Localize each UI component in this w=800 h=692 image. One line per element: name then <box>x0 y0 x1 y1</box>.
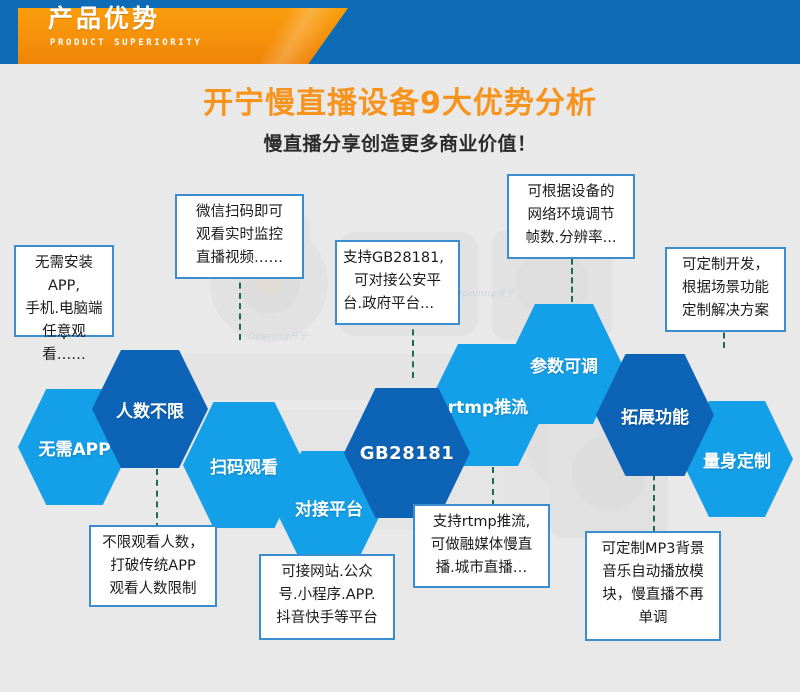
callout-5-line-3: 定制解决方案 <box>673 300 778 323</box>
callout-box-3: 支持GB28181, 可对接公安平 台.政府平台... <box>335 240 460 325</box>
callout-2-line-3: 直播视频…… <box>183 247 296 270</box>
callout-3-line-1: 支持GB28181, <box>343 247 452 270</box>
callout-6-line-1: 不限观看人数， <box>97 532 209 555</box>
banner-title-cn: 产品优势 <box>48 4 160 34</box>
callout-box-5: 可定制开发， 根据场景功能 定制解决方案 <box>665 247 786 332</box>
callout-7-line-1: 可接网站.公众 <box>267 561 387 584</box>
callout-7-line-3: 抖音快手等平台 <box>267 607 387 630</box>
hexagon-gb28181-label: GB28181 <box>356 443 459 464</box>
callout-box-7: 可接网站.公众 号.小程序.APP. 抖音快手等平台 <box>259 554 395 640</box>
hexagon-tailor-made-label: 量身定制 <box>699 447 775 472</box>
callout-box-4: 可根据设备的 网络环境调节 帧数.分辨率... <box>507 174 635 259</box>
callout-4-line-3: 帧数.分辨率... <box>515 227 627 250</box>
callout-6-line-2: 打破传统APP <box>97 555 209 578</box>
page-title: 开宁慢直播设备9大优势分析 <box>0 86 800 122</box>
infographic-page: 产品优势 PRODUCT SUPERIORITY Opening开宁 Openi… <box>0 0 800 692</box>
brand-watermark-2: Opening开宁 <box>455 286 515 299</box>
brand-watermark-1: Opening开宁 <box>248 329 308 342</box>
callout-1-line-2: 手机.电脑端 <box>22 298 106 321</box>
hexagon-adjustable-params-label: 参数可调 <box>526 352 602 377</box>
callout-2-line-1: 微信扫码即可 <box>183 201 296 224</box>
callout-7-line-2: 号.小程序.APP. <box>267 584 387 607</box>
callout-2-line-2: 观看实时监控 <box>183 224 296 247</box>
callout-5-line-1: 可定制开发， <box>673 254 778 277</box>
callout-4-line-1: 可根据设备的 <box>515 181 627 204</box>
callout-box-2: 微信扫码即可 观看实时监控 直播视频…… <box>175 194 304 279</box>
hexagon-platform-docking-label: 对接平台 <box>291 495 367 520</box>
callout-box-6: 不限观看人数， 打破传统APP 观看人数限制 <box>89 525 217 607</box>
callout-8-line-3: 播.城市直播… <box>421 557 542 580</box>
callout-box-9: 可定制MP3背景 音乐自动播放模 块，慢直播不再 单调 <box>585 531 721 641</box>
banner-sheen <box>228 8 348 64</box>
callout-3-line-3: 台.政府平台... <box>343 293 452 316</box>
callout-1-line-1: 无需安装APP, <box>22 252 106 298</box>
hexagon-expanded-features-label: 拓展功能 <box>617 403 693 428</box>
page-subtitle: 慢直播分享创造更多商业价值！ <box>0 132 800 156</box>
connector-line-6 <box>156 469 158 529</box>
callout-1-line-3: 任意观看…… <box>22 321 106 367</box>
callout-9-line-4: 单调 <box>593 607 713 630</box>
hexagon-rtmp-push-label: rtmp推流 <box>444 393 532 418</box>
banner-title-en: PRODUCT SUPERIORITY <box>50 38 202 49</box>
hexagon-unlimited-viewers-label: 人数不限 <box>112 397 188 422</box>
callout-box-8: 支持rtmp推流, 可做融媒体慢直 播.城市直播… <box>413 504 550 588</box>
callout-9-line-3: 块，慢直播不再 <box>593 584 713 607</box>
callout-8-line-2: 可做融媒体慢直 <box>421 534 542 557</box>
callout-5-line-2: 根据场景功能 <box>673 277 778 300</box>
content-stage: Opening开宁 Opening开宁 开宁慢直播设备9大优势分析 慢直播分享创… <box>0 64 800 692</box>
callout-9-line-1: 可定制MP3背景 <box>593 538 713 561</box>
hexagon-no-app-label: 无需APP <box>34 435 114 460</box>
callout-box-1: 无需安装APP, 手机.电脑端 任意观看…… <box>14 245 114 337</box>
callout-8-line-1: 支持rtmp推流, <box>421 511 542 534</box>
callout-3-line-2: 可对接公安平 <box>343 270 452 293</box>
callout-6-line-3: 观看人数限制 <box>97 578 209 601</box>
callout-4-line-2: 网络环境调节 <box>515 204 627 227</box>
header-bar: 产品优势 PRODUCT SUPERIORITY <box>0 0 800 64</box>
callout-9-line-2: 音乐自动播放模 <box>593 561 713 584</box>
hexagon-scan-to-watch-label: 扫码观看 <box>206 453 282 478</box>
